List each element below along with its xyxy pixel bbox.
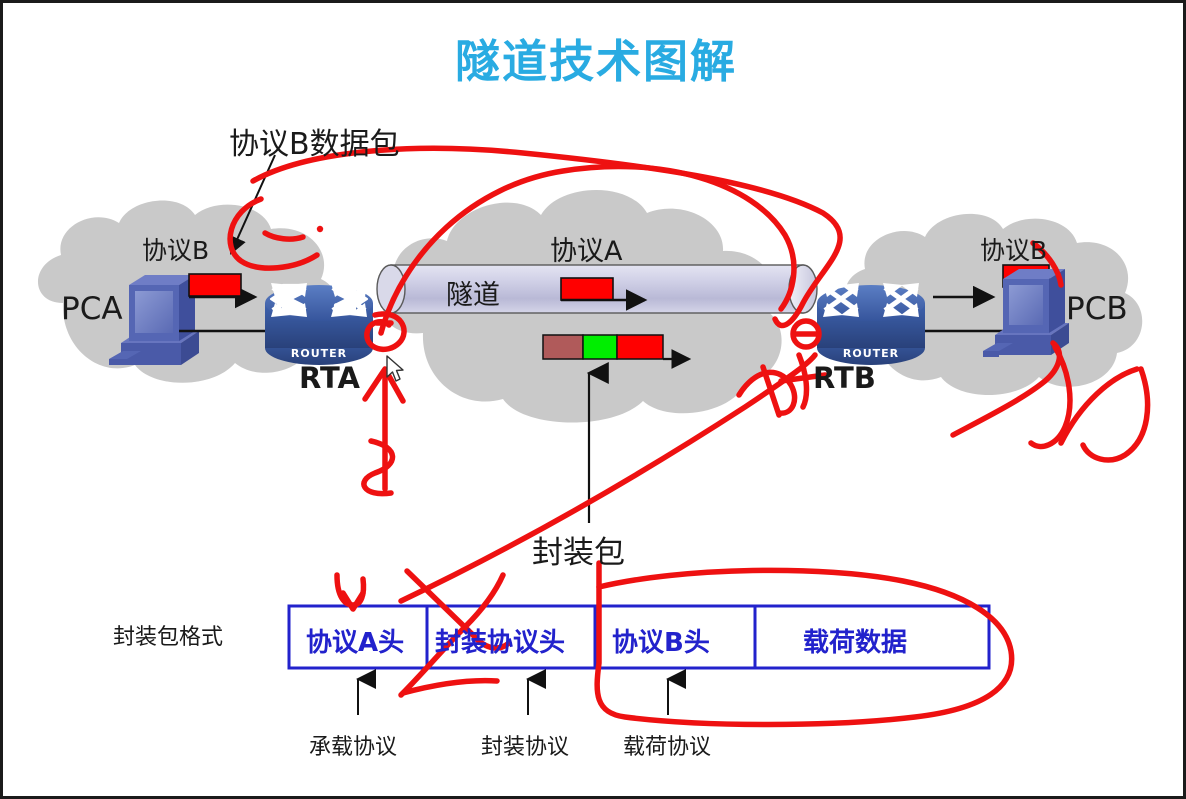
format-cell-label-3: 载荷数据 — [803, 622, 907, 659]
router-rta-label: RTA — [299, 361, 360, 395]
format-cell-label-1: 封装协议头 — [435, 622, 565, 659]
callout-encapsulated-packet: 封装包 — [532, 527, 625, 572]
svg-text:ROUTER: ROUTER — [843, 347, 899, 360]
pc-a-label: PCA — [61, 291, 123, 327]
pc-b-label: PCB — [1066, 291, 1128, 327]
format-note-0: 承载协议 — [309, 729, 397, 761]
cloud-middle-label: 协议A — [550, 229, 622, 268]
cloud-left-label: 协议B — [142, 231, 209, 267]
callout-protocol-b-packet: 协议B数据包 — [229, 119, 400, 163]
mouse-cursor — [386, 355, 408, 385]
diagram-canvas: 隧道技术图解 — [0, 0, 1186, 799]
cloud-right-label: 协议B — [980, 231, 1047, 267]
router-rtb-icon: ROUTER — [817, 283, 925, 365]
diagram-svg: ROUTER — [3, 3, 1186, 799]
router-rtb-label: RTB — [813, 361, 876, 395]
packet-left — [189, 274, 241, 296]
format-note-1: 封装协议 — [481, 729, 569, 761]
format-cell-label-0: 协议A头 — [306, 622, 404, 659]
format-cell-label-2: 协议B头 — [612, 622, 710, 659]
tunnel-label: 隧道 — [446, 273, 500, 312]
packet-format-row-label: 封装包格式 — [113, 619, 223, 651]
packet-in-tunnel — [561, 278, 613, 300]
router-rta-icon: ROUTER — [265, 283, 373, 365]
svg-text:ROUTER: ROUTER — [291, 347, 347, 360]
format-note-2: 载荷协议 — [623, 729, 711, 761]
